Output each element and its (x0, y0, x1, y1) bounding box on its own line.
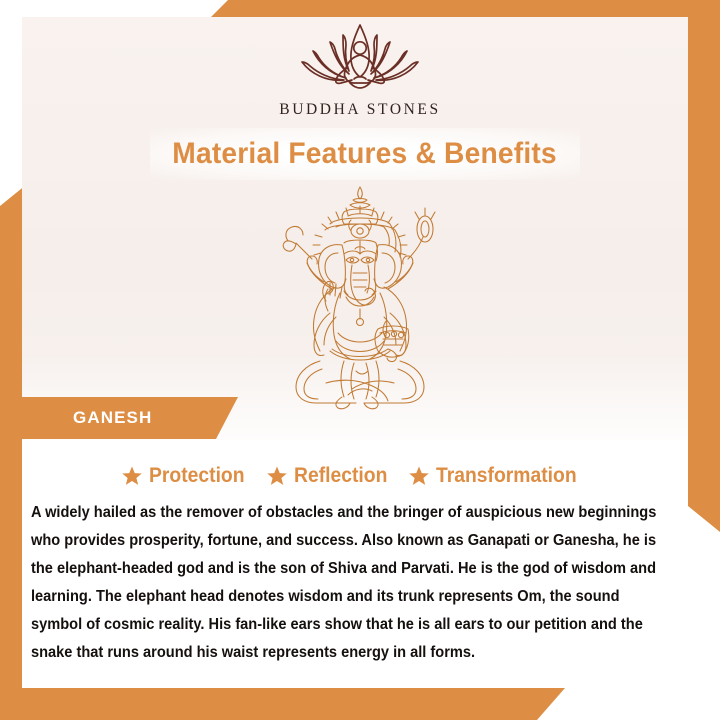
brand-name: BUDDHA STONES (279, 101, 440, 119)
feature-transformation: Transformation (408, 464, 589, 488)
description-card: Protection Reflection Transformation (22, 440, 688, 688)
ganesh-section-banner: GANESH (18, 397, 238, 439)
page-title-text: Material Features & Benefits (173, 137, 558, 171)
description-text: A widely hailed as the remover of obstac… (31, 499, 673, 667)
star-icon (266, 465, 288, 487)
feature-label: Reflection (294, 464, 387, 488)
ganesh-banner-label: GANESH (73, 408, 152, 428)
star-icon (121, 465, 143, 487)
infographic-page: BUDDHA STONES Material Features & Benefi… (0, 0, 720, 720)
feature-protection: Protection (121, 464, 253, 488)
bottom-accent-band (0, 688, 565, 720)
page-title: Material Features & Benefits (150, 128, 580, 180)
features-row: Protection Reflection Transformation (22, 440, 688, 488)
lotus-meditation-icon (286, 22, 434, 94)
brand-logo: BUDDHA STONES (0, 22, 720, 119)
feature-label: Transformation (436, 464, 577, 488)
feature-label: Protection (149, 464, 245, 488)
ganesha-line-art-icon (260, 183, 460, 413)
star-icon (408, 465, 430, 487)
feature-reflection: Reflection (266, 464, 396, 488)
